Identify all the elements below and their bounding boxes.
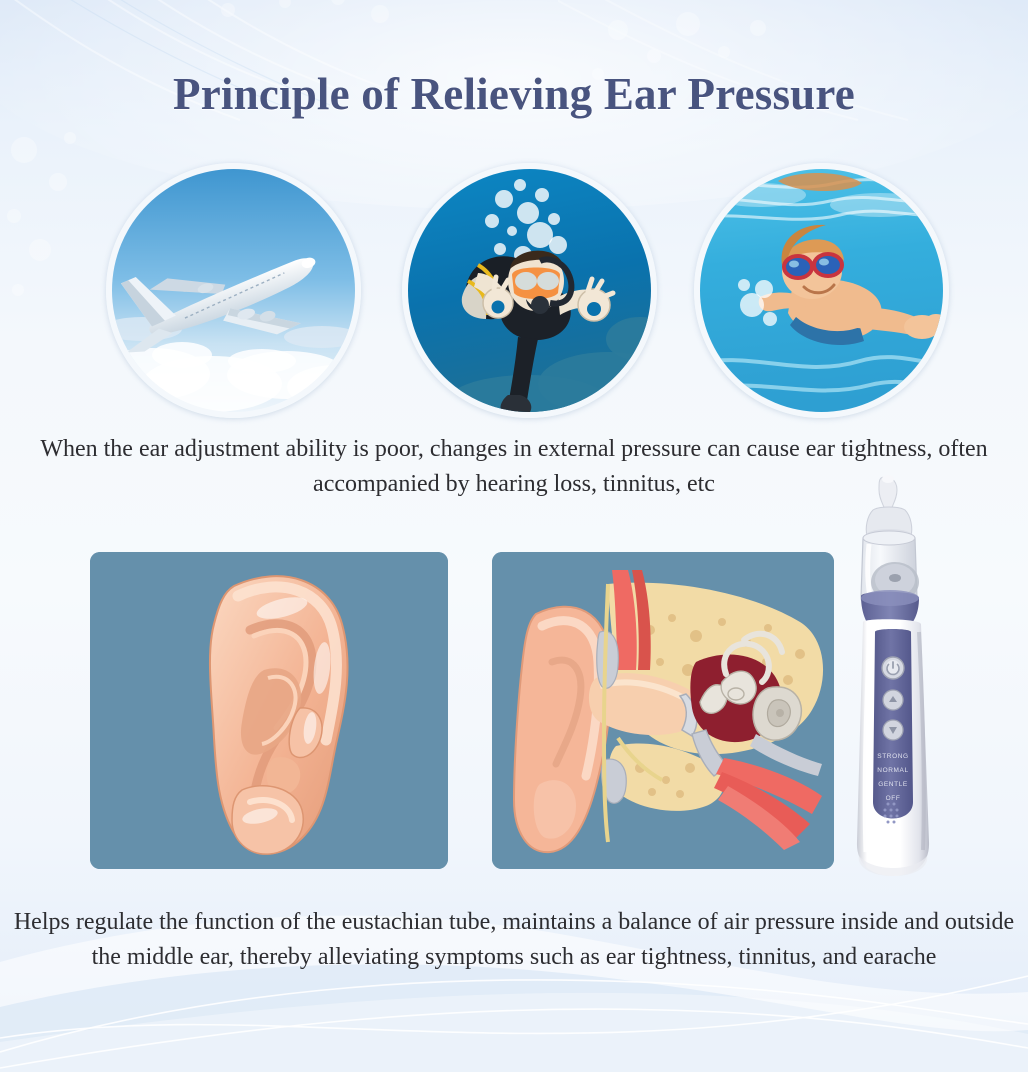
ear-anatomy-cross-section (492, 552, 834, 869)
scenario-circle-swimming-child (694, 163, 949, 418)
child-swimming-underwater-photo (700, 169, 943, 412)
caption-bottom: Helps regulate the function of the eusta… (0, 905, 1028, 975)
mode-label-off: OFF (886, 795, 901, 802)
device-illustration: STRONG NORMAL GENTLE OFF (833, 472, 955, 892)
power-button (882, 657, 904, 679)
scuba-diver-photo (408, 169, 651, 412)
mode-label-normal: NORMAL (877, 767, 908, 774)
mode-up-button (883, 690, 903, 710)
panel-outer-ear (90, 552, 448, 869)
outer-ear-illustration (90, 552, 448, 869)
infographic-page: Principle of Relieving Ear Pressure (0, 0, 1028, 1072)
nasal-ear-aspirator-device[interactable]: STRONG NORMAL GENTLE OFF (833, 472, 955, 892)
mode-down-button (883, 720, 903, 740)
airplane-in-flight-photo (112, 169, 355, 412)
mode-label-gentle: GENTLE (878, 781, 908, 788)
mode-label-strong: STRONG (877, 753, 908, 760)
scenario-circle-airplane (106, 163, 361, 418)
scenario-circle-scuba-diver (402, 163, 657, 418)
page-title: Principle of Relieving Ear Pressure (0, 68, 1028, 120)
scenario-circle-row (0, 160, 1028, 415)
panel-ear-anatomy (492, 552, 834, 869)
